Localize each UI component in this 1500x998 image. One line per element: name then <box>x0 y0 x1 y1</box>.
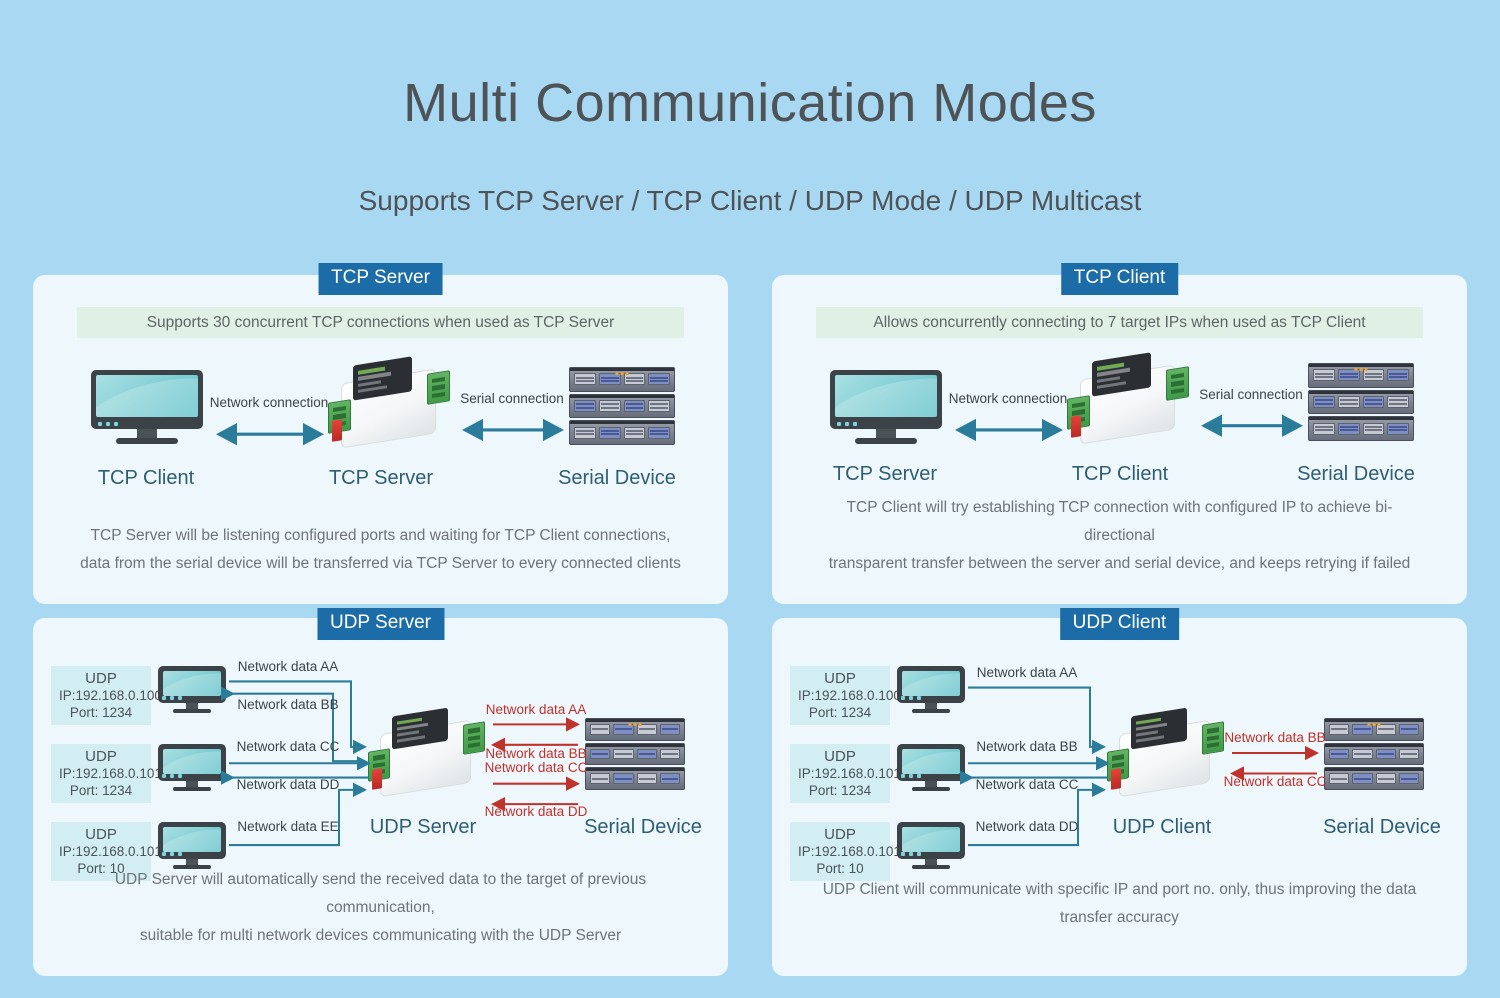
panel-tcp-client: TCP Client Allows concurrently connectin… <box>772 275 1467 604</box>
device-label-middle: TCP Server <box>329 467 433 490</box>
device-label-right: Serial Device <box>1297 463 1415 486</box>
device-label-right: Serial Device <box>558 467 676 490</box>
arrow-label-serial: Serial connection <box>460 391 564 406</box>
arrow-label-serial: Serial connection <box>1199 387 1303 402</box>
device-label-middle: UDP Client <box>1113 816 1212 839</box>
arrow-label-net-2: Network data BB <box>237 697 338 712</box>
page-title: Multi Communication Modes <box>0 72 1500 134</box>
arrow-label-serial-1: Network data AA <box>486 702 587 717</box>
arrow-label-net-4: Network data DD <box>237 777 340 792</box>
device-label-middle: UDP Server <box>370 816 476 839</box>
caption-line-1: UDP Client will communicate with specifi… <box>812 876 1427 932</box>
arrow-label-serial-2: Network data BB <box>485 746 586 761</box>
caption-line-2: data from the serial device will be tran… <box>73 550 688 578</box>
device-label-right: Serial Device <box>584 816 702 839</box>
page-subtitle: Supports TCP Server / TCP Client / UDP M… <box>0 185 1500 217</box>
arrow-label-network: Network connection <box>949 391 1068 406</box>
caption-line-1: UDP Server will automatically send the r… <box>73 866 688 922</box>
caption-line-1: TCP Server will be listening configured … <box>73 522 688 550</box>
device-label-middle: TCP Client <box>1072 463 1168 486</box>
arrow-label-net-3: Network data CC <box>976 777 1079 792</box>
quadrant-udp-client: UDP Client UDP IP:192.168.0.100 Port: 12… <box>750 604 1500 998</box>
panel-caption-udp-server: UDP Server will automatically send the r… <box>73 866 688 950</box>
arrow-label-net-5: Network data EE <box>237 819 338 834</box>
arrow-label-net-3: Network data CC <box>237 739 340 754</box>
panel-udp-client: UDP Client UDP IP:192.168.0.100 Port: 12… <box>772 618 1467 976</box>
quadrant-tcp-client: TCP Client Allows concurrently connectin… <box>750 255 1500 604</box>
panel-udp-server: UDP Server UDP IP:192.168.0.100 Port: 12… <box>33 618 728 976</box>
arrow-label-serial-4: Network data DD <box>485 804 588 819</box>
panel-caption-tcp-server: TCP Server will be listening configured … <box>73 522 688 578</box>
page-root: Multi Communication Modes Supports TCP S… <box>0 0 1500 998</box>
arrow-label-net-1: Network data AA <box>977 665 1078 680</box>
device-label-right: Serial Device <box>1323 816 1441 839</box>
arrow-label-network: Network connection <box>210 395 329 410</box>
arrow-label-net-1: Network data AA <box>238 659 339 674</box>
arrow-label-net-2: Network data BB <box>976 739 1077 754</box>
device-label-left: TCP Server <box>833 463 937 486</box>
quadrant-tcp-server: TCP Server Supports 30 concurrent TCP co… <box>0 255 750 604</box>
caption-line-2: transparent transfer between the server … <box>812 550 1427 578</box>
device-label-left: TCP Client <box>98 467 194 490</box>
quadrant-udp-server: UDP Server UDP IP:192.168.0.100 Port: 12… <box>0 604 750 998</box>
panel-caption-tcp-client: TCP Client will try establishing TCP con… <box>812 494 1427 578</box>
arrow-label-net-4: Network data DD <box>976 819 1079 834</box>
caption-line-1: TCP Client will try establishing TCP con… <box>812 494 1427 550</box>
arrow-label-serial-2: Network data CC <box>1224 774 1327 789</box>
caption-line-2: suitable for multi network devices commu… <box>73 922 688 950</box>
modes-grid: TCP Server Supports 30 concurrent TCP co… <box>0 255 1500 998</box>
arrow-label-serial-3: Network data CC <box>485 760 588 775</box>
panel-tcp-server: TCP Server Supports 30 concurrent TCP co… <box>33 275 728 604</box>
header: Multi Communication Modes Supports TCP S… <box>0 0 1500 255</box>
panel-caption-udp-client: UDP Client will communicate with specifi… <box>812 876 1427 932</box>
arrow-label-serial-1: Network data BB <box>1224 730 1325 745</box>
